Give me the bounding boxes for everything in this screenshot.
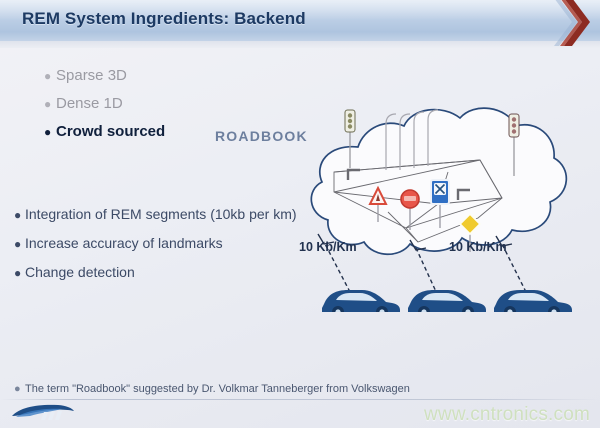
page-title: REM System Ingredients: Backend bbox=[22, 9, 306, 29]
sub-item-label: Crowd sourced bbox=[56, 123, 165, 140]
bullet-dot-icon: ● bbox=[44, 63, 56, 90]
car-left-icon bbox=[322, 290, 400, 312]
bullet-dot-icon: ● bbox=[14, 201, 25, 229]
sub-item-label: Dense 1D bbox=[56, 95, 123, 112]
mobileye-logo bbox=[10, 402, 76, 426]
main-item-accuracy: ●Increase accuracy of landmarks bbox=[14, 229, 314, 258]
header-chevron-icon bbox=[530, 0, 600, 46]
roadbook-cloud-diagram bbox=[288, 52, 600, 312]
backend-feature-list: ●Integration of REM segments (10kb per k… bbox=[14, 200, 314, 287]
uplink-rate-label-left: 10 Kb/Km bbox=[299, 240, 357, 254]
bullet-dot-icon: ● bbox=[44, 91, 56, 118]
main-item-change-detection: ●Change detection bbox=[14, 258, 314, 287]
sub-item-sparse-3d: ●Sparse 3D bbox=[44, 62, 284, 90]
header-underline bbox=[0, 41, 600, 48]
main-item-label: Change detection bbox=[25, 264, 135, 280]
footnote-text: The term "Roadbook" suggested by Dr. Vol… bbox=[25, 383, 410, 395]
car-center-icon bbox=[408, 290, 486, 312]
bullet-dot-icon: ● bbox=[14, 230, 25, 258]
bullet-dot-icon: ● bbox=[44, 119, 56, 146]
main-item-label: Integration of REM segments (10kb per km… bbox=[25, 206, 297, 222]
main-item-integration: ●Integration of REM segments (10kb per k… bbox=[14, 200, 314, 229]
car-right-icon bbox=[494, 290, 572, 312]
slide: REM System Ingredients: Backend ●Sparse … bbox=[0, 0, 600, 428]
sub-item-dense-1d: ●Dense 1D bbox=[44, 90, 284, 118]
sub-item-label: Sparse 3D bbox=[56, 67, 127, 84]
bottom-divider bbox=[0, 399, 600, 400]
bullet-dot-icon: ● bbox=[14, 383, 25, 395]
bullet-dot-icon: ● bbox=[14, 259, 25, 287]
footnote: ●The term "Roadbook" suggested by Dr. Vo… bbox=[14, 383, 410, 395]
uplink-rate-label-right: 10 Kb/Km bbox=[449, 240, 507, 254]
site-watermark: www.cntronics.com bbox=[424, 404, 590, 426]
main-item-label: Increase accuracy of landmarks bbox=[25, 235, 223, 251]
